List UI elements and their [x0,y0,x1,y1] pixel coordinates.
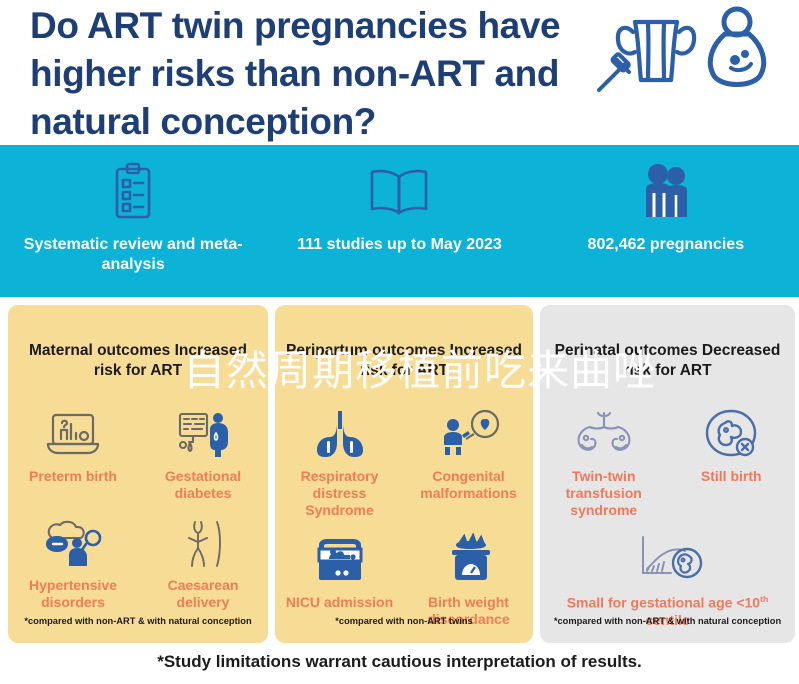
caesarean-scar-icon [175,510,231,568]
twin-fetuses-icon [571,401,637,459]
outcome-cards: Maternal outcomes Increased risk for ART… [0,305,799,648]
study-limitations-note: *Study limitations warrant cautious inte… [0,652,799,672]
two-people-icon [639,159,693,225]
card-title: Peripartum outcomes Increased risk for A… [285,341,523,381]
laptop-chart-icon [44,401,102,459]
outcome-item-still-birth: Still birth [668,401,796,519]
blood-pressure-icon [42,510,104,568]
card-peripartum-outcomes: Peripartum outcomes Increased risk for A… [275,305,533,643]
stat-label: 802,462 pregnancies [588,235,745,255]
card-maternal-outcomes: Maternal outcomes Increased risk for ART… [8,305,268,643]
card-footnote: *compared with non-ART & with natural co… [548,616,787,626]
outcome-label: Congenital malformations [408,468,529,502]
outcome-item-small-for-gestational-age: Small for gestational age <10th centile [540,527,795,629]
baby-scale-icon [440,527,498,585]
header-icon-group [585,2,785,92]
outcome-label: Gestational diabetes [142,468,264,502]
growth-chart-fetus-icon [625,527,711,585]
outcome-item-caesarean-delivery: Caesarean delivery [138,510,268,611]
outcome-label: Caesarean delivery [142,577,264,611]
card-title: Perinatal outcomes Decreased risk for AR… [550,341,785,381]
page-title: Do ART twin pregnancies have higher risk… [30,2,590,146]
outcome-item-twin-twin-transfusion: Twin-twin transfusion syndrome [540,401,668,519]
outcome-label: Hypertensive disorders [12,577,134,611]
stat-item-studies: 111 studies up to May 2023 [266,145,532,297]
outcome-label: Still birth [701,468,762,485]
outcome-item-nicu-admission: NICU admission [275,527,404,628]
card-title: Maternal outcomes Increased risk for ART [18,341,258,381]
clipboard-checklist-icon [109,159,157,225]
outcome-label: NICU admission [286,594,393,611]
incubator-icon [309,527,371,585]
stat-item-pregnancies: 802,462 pregnancies [533,145,799,297]
card-footnote: *compared with non-ART & with natural co… [16,616,260,626]
outcome-item-gestational-diabetes: Gestational diabetes [138,401,268,502]
outcome-item-congenital-malformations: Congenital malformations [404,401,533,519]
stat-item-review: Systematic review and meta-analysis [0,145,266,297]
pregnant-belly-icon [710,9,763,85]
outcome-label-superscript: th [760,594,768,604]
outcome-label-prefix: Small for gestational age <10 [567,595,760,611]
outcome-label: Twin-twin transfusion syndrome [544,468,664,519]
card-perinatal-outcomes: Perinatal outcomes Decreased risk for AR… [540,305,795,643]
outcome-item-hypertensive-disorders: Hypertensive disorders [8,510,138,611]
header: Do ART twin pregnancies have higher risk… [0,0,799,145]
baby-heart-icon [438,401,500,459]
stillbirth-icon [701,401,761,459]
card-footnote: *compared with non-ART twins [283,616,525,626]
stat-label: 111 studies up to May 2023 [297,235,502,255]
outcome-label: Preterm birth [29,468,117,485]
uterus-syringe-icon [599,22,694,90]
open-book-icon [368,159,430,225]
outcome-item-preterm-birth: Preterm birth [8,401,138,502]
stats-band: Systematic review and meta-analysis 111 … [0,145,799,297]
outcome-label: Respiratory distress Syndrome [279,468,400,519]
stat-label: Systematic review and meta-analysis [0,235,266,274]
outcome-item-respiratory-distress: Respiratory distress Syndrome [275,401,404,519]
glucose-monitor-icon [174,401,232,459]
outcome-item-birth-weight-discordance: Birth weight discordance [404,527,533,628]
lungs-icon [311,401,369,459]
